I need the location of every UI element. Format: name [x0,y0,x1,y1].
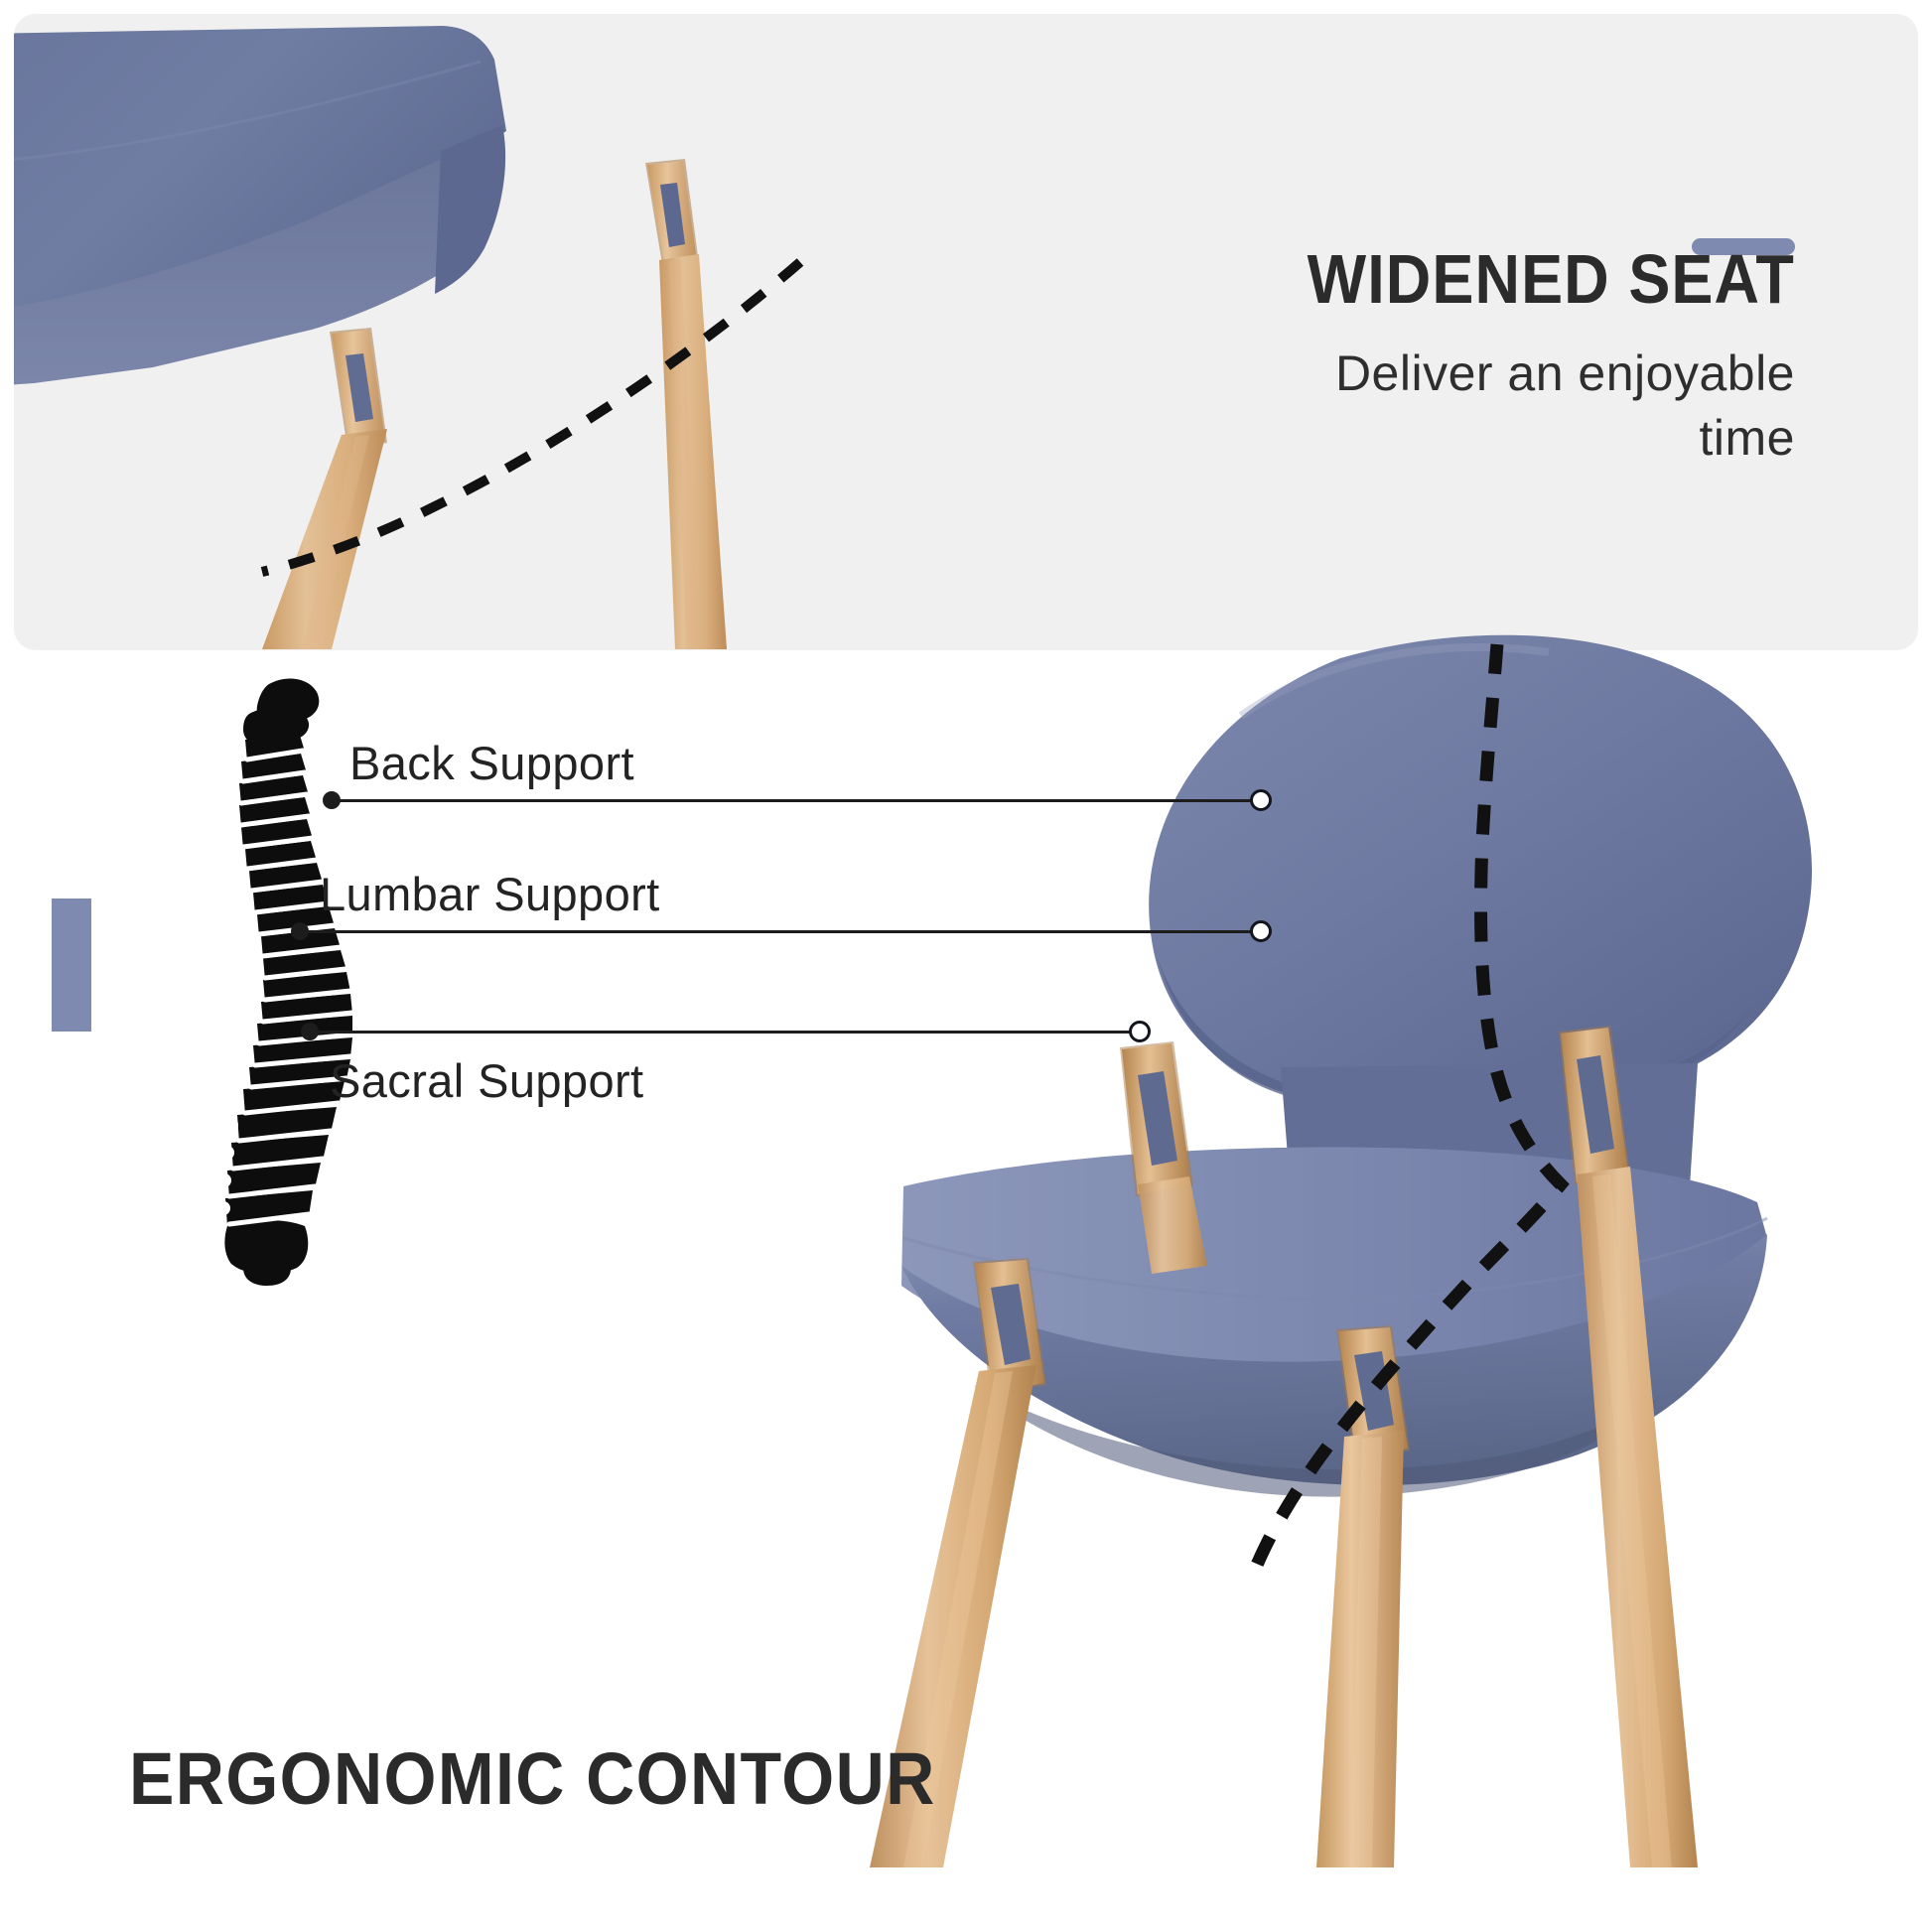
callout-line-lumbar-support [298,930,1261,933]
subtitle-line-1: Deliver an enjoyable [987,342,1795,406]
ergonomic-contour-panel: Back Support Lumbar Support Sacral Suppo… [0,650,1932,1932]
subtitle-line-2: time [987,406,1795,471]
callout-label-lumbar-support: Lumbar Support [320,871,660,917]
accent-bar-vertical [52,898,91,1032]
callout-endpoint-back-support [1250,789,1272,811]
seat-closeup-photo [14,14,987,650]
callout-label-back-support: Back Support [349,740,634,786]
callout-endpoint-lumbar-support [1250,920,1272,942]
widened-seat-subtitle: Deliver an enjoyable time [987,342,1795,471]
chair-product-photo [824,630,1916,1871]
page-title-ergonomic-contour: ERGONOMIC CONTOUR [129,1742,936,1816]
infographic-root: WIDENED SEAT Deliver an enjoyable time [0,0,1932,1932]
callout-line-back-support [330,799,1261,802]
callout-line-sacral-support [308,1031,1140,1034]
callout-endpoint-sacral-support [1129,1021,1151,1042]
widened-seat-panel: WIDENED SEAT Deliver an enjoyable time [14,14,1918,650]
page-title-widened-seat: WIDENED SEAT [1085,242,1795,316]
callout-label-sacral-support: Sacral Support [330,1057,644,1104]
